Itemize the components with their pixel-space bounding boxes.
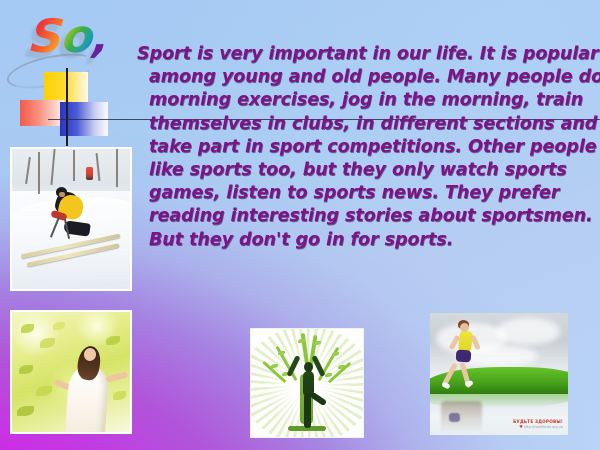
cloud xyxy=(496,318,559,345)
leaf-sprig xyxy=(332,352,339,356)
skier-photo-content xyxy=(12,149,130,289)
skier-photo xyxy=(10,147,132,291)
runner-reflection-shorts xyxy=(449,413,460,422)
runner-reflection xyxy=(441,401,482,433)
decorative-blocks-graphic xyxy=(20,72,120,142)
heart-icon: ♥ xyxy=(519,425,523,430)
decorative-red-block xyxy=(20,100,64,126)
field-photo-content xyxy=(12,312,130,432)
watermark-url-text: http://healthsite.org.ua xyxy=(524,425,563,429)
runner-shorts xyxy=(456,349,472,362)
slide-body-text: Sport is very important in our life. It … xyxy=(137,43,600,252)
wordart-title: So, xyxy=(28,13,111,61)
decorative-vertical-line xyxy=(66,68,68,146)
presentation-slide: So, So, Sport is very important in our l… xyxy=(0,0,600,450)
runner-photo: БУДЬТЕ ЗДОРОВЫ! ♥http://healthsite.org.u… xyxy=(430,313,568,435)
tree-trunk xyxy=(73,150,75,181)
runner-photo-watermark: БУДЬТЕ ЗДОРОВЫ! ♥http://healthsite.org.u… xyxy=(513,420,563,430)
distant-skier xyxy=(86,167,93,180)
yoga-illustration-content xyxy=(251,329,363,437)
leaf-sprig xyxy=(271,364,278,368)
leaf-sprig xyxy=(278,351,285,355)
figure-standing-leg xyxy=(304,394,311,429)
leaf xyxy=(17,406,34,416)
leaf-sprig xyxy=(298,339,305,343)
tree-trunk xyxy=(116,149,118,187)
watermark-url: ♥http://healthsite.org.ua xyxy=(513,425,563,430)
woman-in-field-photo xyxy=(10,310,132,434)
runner-photo-content: БУДЬТЕ ЗДОРОВЫ! ♥http://healthsite.org.u… xyxy=(430,313,568,435)
yoga-tree-illustration xyxy=(250,328,364,438)
leaf-sprig xyxy=(314,341,321,345)
tree-trunk xyxy=(38,152,40,194)
